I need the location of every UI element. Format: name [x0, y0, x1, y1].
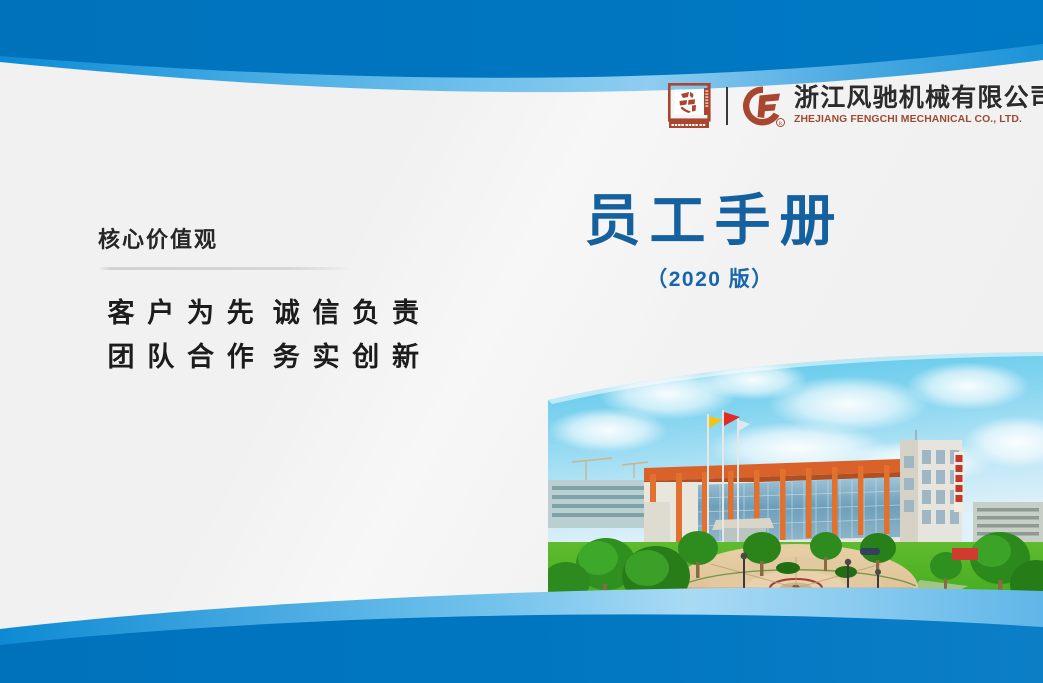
title-block: 员工手册 （2020 版） — [560, 192, 860, 293]
core-value-customer-first: 客 户 为 先 — [108, 298, 257, 328]
company-name-en: ZHEJIANG FENGCHI MECHANICAL CO., LTD. — [794, 115, 1043, 125]
campus-photo — [548, 352, 1043, 642]
core-values-block: 核心价值观 客 户 为 先诚 信 负 责 团 队 合 作务 实 创 新 — [98, 222, 428, 379]
core-value-integrity: 诚 信 负 责 — [273, 298, 422, 328]
core-value-innovation: 务 实 创 新 — [273, 342, 422, 372]
core-values-line-1: 客 户 为 先诚 信 负 责 — [98, 292, 422, 336]
fengchi-f-mark-icon: R — [741, 84, 785, 128]
core-values-line-2: 团 队 合 作务 实 创 新 — [98, 336, 422, 380]
company-logo-block: R 浙江风驰机械有限公司 ZHEJIANG FENGCHI MECHANICAL… — [668, 78, 1043, 134]
core-value-teamwork: 团 队 合 作 — [108, 342, 257, 372]
company-name-group: 浙江风驰机械有限公司 ZHEJIANG FENGCHI MECHANICAL C… — [794, 86, 1043, 125]
shengjiang-mark-seal-icon — [668, 83, 714, 129]
core-values-heading: 核心价值观 — [98, 222, 428, 254]
core-values-list: 客 户 为 先诚 信 负 责 团 队 合 作务 实 创 新 — [98, 292, 428, 379]
page-title: 员工手册 — [560, 192, 860, 249]
registered-symbol: R — [779, 121, 783, 127]
handbook-cover-page: 员工手册 （2020 版） 核心价值观 客 户 为 先诚 信 负 责 团 队 合… — [0, 0, 1043, 683]
core-values-divider — [98, 267, 354, 270]
logo-divider — [726, 87, 728, 125]
company-name-cn: 浙江风驰机械有限公司 — [794, 86, 1043, 111]
edition-label: （2020 版） — [560, 263, 860, 293]
